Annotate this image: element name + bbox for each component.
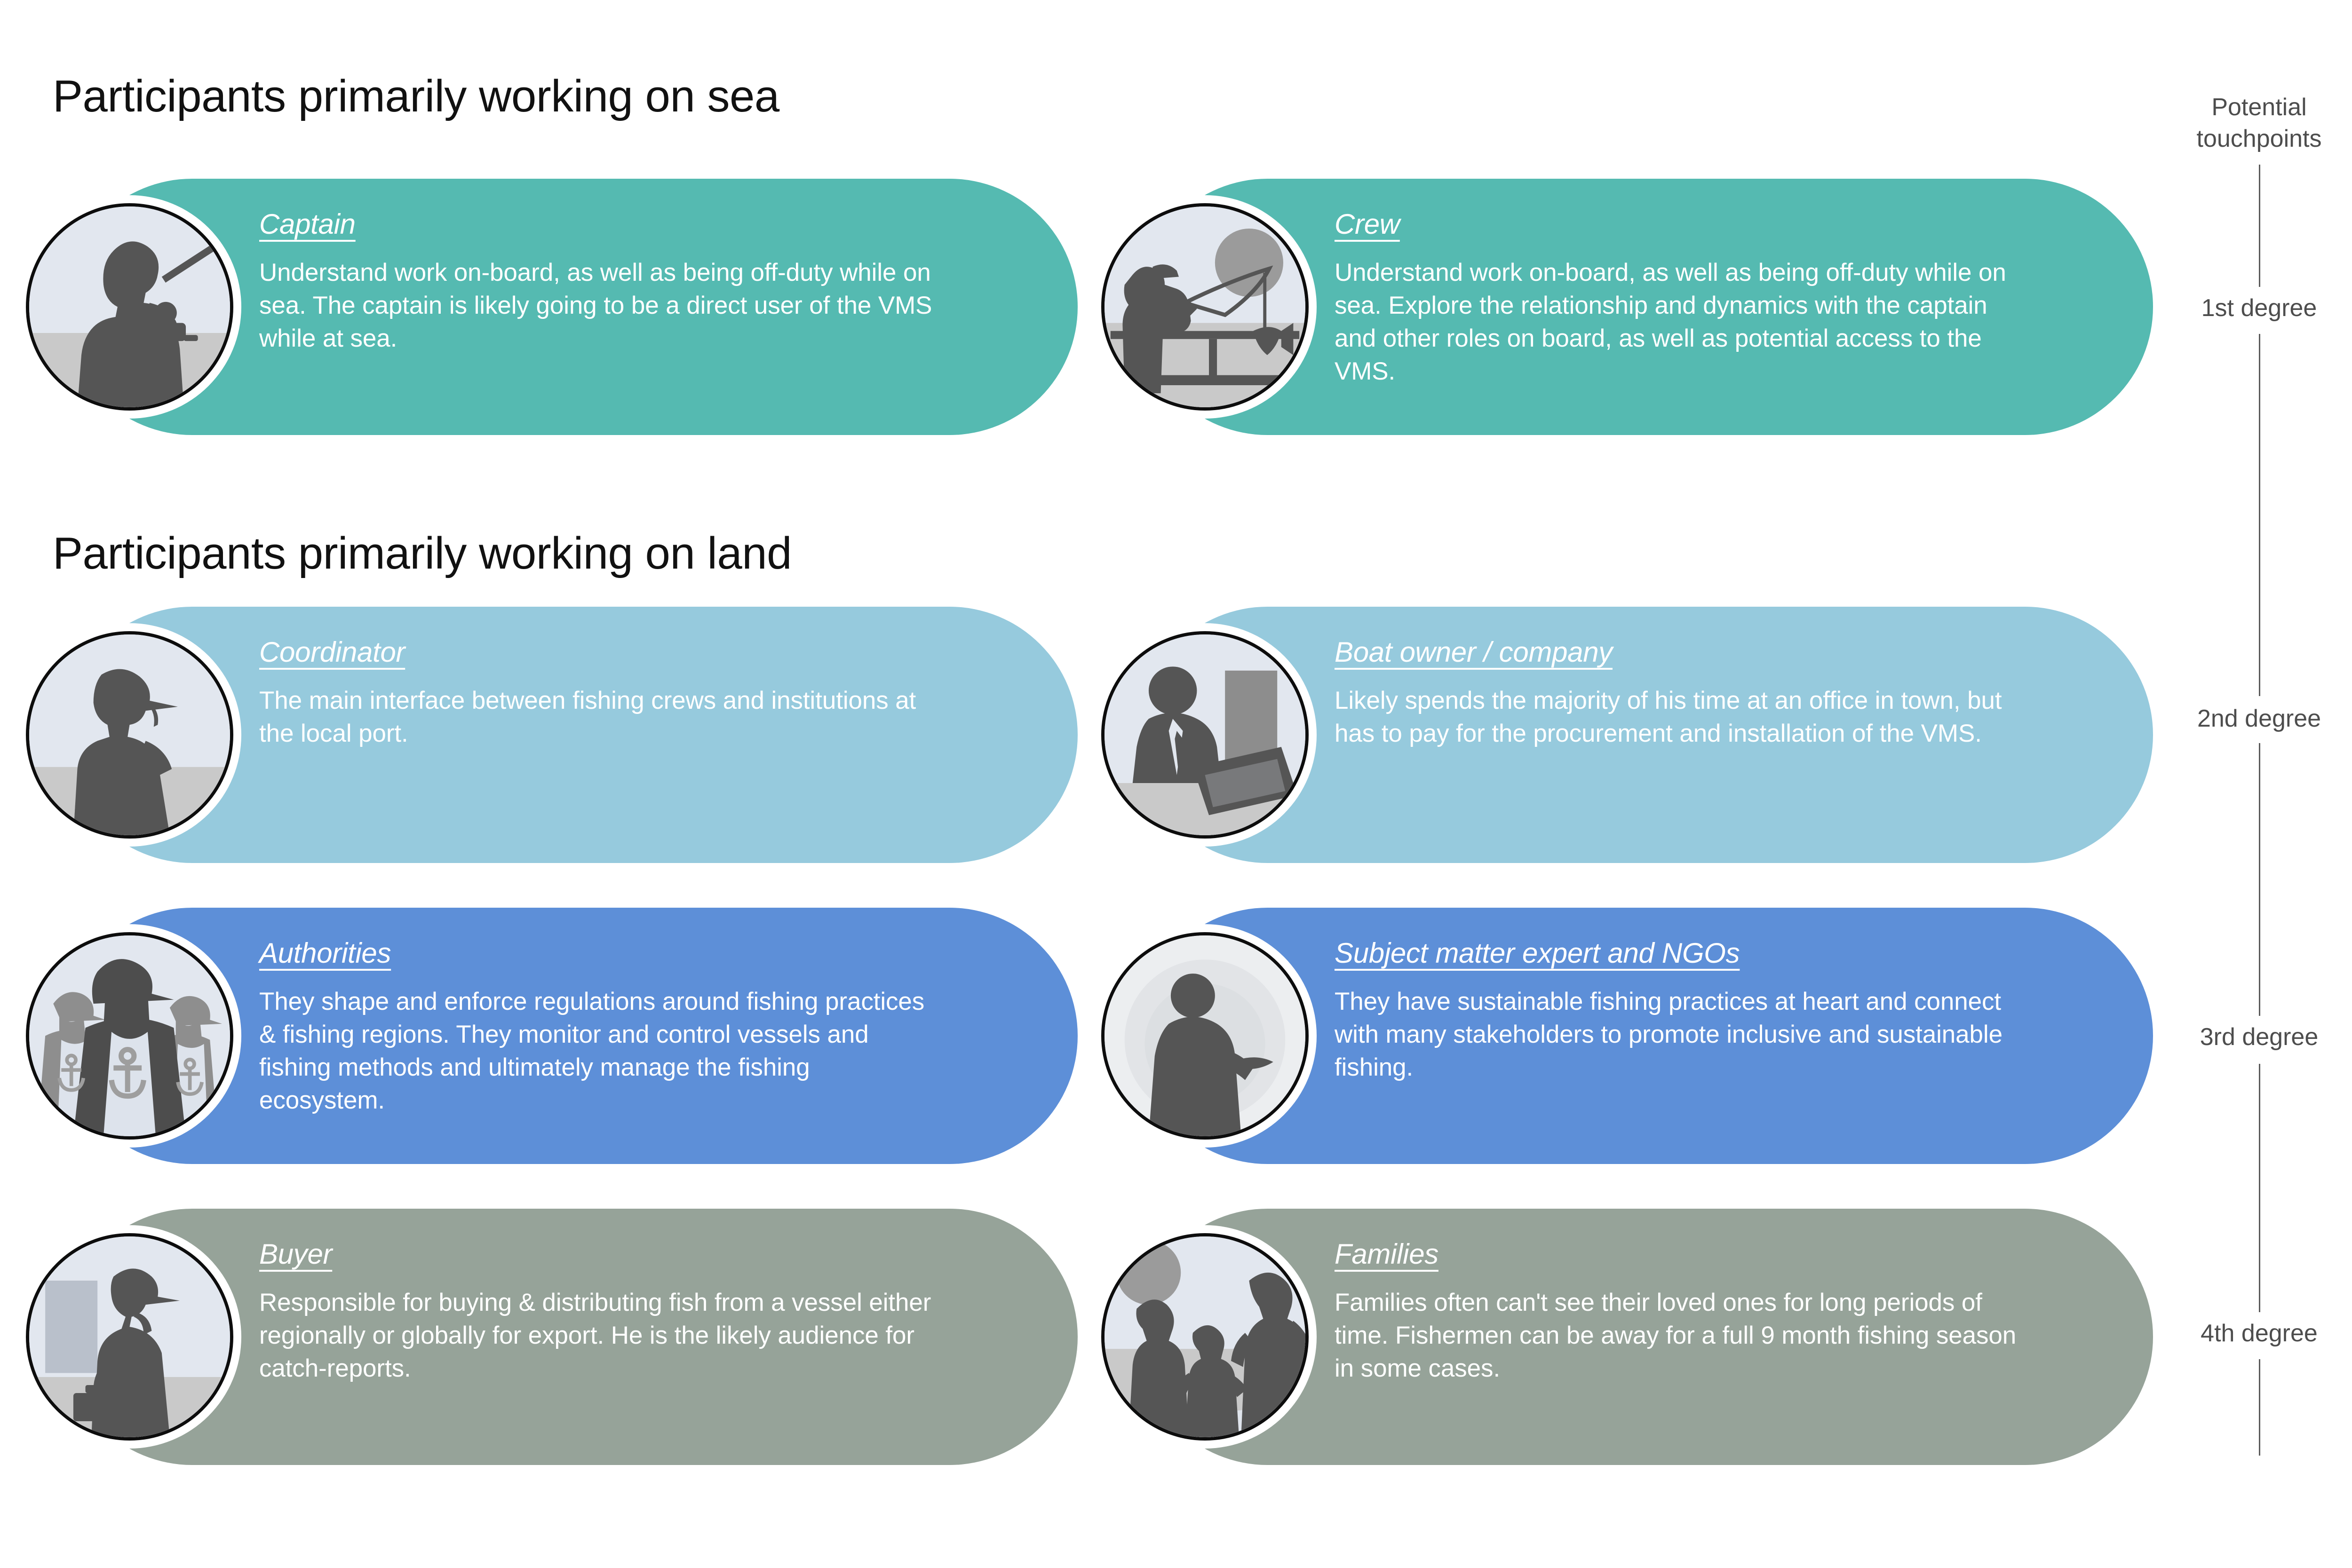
family-holding-hands-icon xyxy=(1104,1236,1305,1437)
role-description: They have sustainable fishing practices … xyxy=(1335,985,2017,1084)
axis-label-4th-degree: 4th degree xyxy=(2166,1319,2352,1347)
role-description: The main interface between fishing crews… xyxy=(259,684,937,750)
role-title: Crew xyxy=(1335,208,2017,240)
participant-card-crew[interactable]: Crew Understand work on-board, as well a… xyxy=(1139,179,2153,435)
participant-card-captain[interactable]: Captain Understand work on-board, as wel… xyxy=(64,179,1078,435)
axis-title-line-2: touchpoints xyxy=(2166,123,2352,155)
role-description: Responsible for buying & distributing fi… xyxy=(259,1286,937,1385)
card-body: Crew Understand work on-board, as well a… xyxy=(1335,208,2017,388)
avatar-buyer xyxy=(18,1225,241,1449)
role-title: Subject matter expert and NGOs xyxy=(1335,937,2017,969)
axis-tick xyxy=(2259,1359,2260,1456)
card-body: Subject matter expert and NGOs They have… xyxy=(1335,937,2017,1084)
avatar-captain xyxy=(18,195,241,419)
card-body: Buyer Responsible for buying & distribut… xyxy=(259,1238,937,1385)
participant-card-buyer[interactable]: Buyer Responsible for buying & distribut… xyxy=(64,1209,1078,1465)
buyer-on-phone-with-briefcase-icon xyxy=(29,1236,230,1437)
businessman-at-desk-icon xyxy=(1104,634,1305,835)
role-title: Authorities xyxy=(259,937,937,969)
crew-fishing-at-railing-icon xyxy=(1104,206,1305,407)
role-title: Boat owner / company xyxy=(1335,636,2017,668)
role-description: Understand work on-board, as well as bei… xyxy=(1335,256,2017,388)
participant-card-families[interactable]: Families Families often can't see their … xyxy=(1139,1209,2153,1465)
role-title: Buyer xyxy=(259,1238,937,1270)
axis-title: Potential touchpoints xyxy=(2166,92,2352,154)
coordinator-with-cap-icon xyxy=(29,634,230,835)
role-title: Captain xyxy=(259,208,937,240)
card-body: Authorities They shape and enforce regul… xyxy=(259,937,937,1117)
card-body: Boat owner / company Likely spends the m… xyxy=(1335,636,2017,750)
participant-card-authorities[interactable]: Authorities They shape and enforce regul… xyxy=(64,908,1078,1164)
role-description: Likely spends the majority of his time a… xyxy=(1335,684,2017,750)
avatar-subject-matter-expert xyxy=(1093,924,1317,1148)
role-title: Families xyxy=(1335,1238,2017,1270)
avatar-coordinator xyxy=(18,623,241,847)
potential-touchpoints-axis: Potential touchpoints 1st degree 2nd deg… xyxy=(2166,0,2352,1568)
presenter-speaking-icon xyxy=(1104,935,1305,1136)
axis-title-line-1: Potential xyxy=(2166,92,2352,123)
participant-card-subject-matter-expert[interactable]: Subject matter expert and NGOs They have… xyxy=(1139,908,2153,1164)
axis-label-3rd-degree: 3rd degree xyxy=(2166,1023,2352,1051)
axis-tick xyxy=(2259,743,2260,1016)
role-description: Understand work on-board, as well as bei… xyxy=(259,256,937,355)
participant-cards-layer: Captain Understand work on-board, as wel… xyxy=(0,0,2352,1568)
axis-tick xyxy=(2259,334,2260,696)
card-body: Captain Understand work on-board, as wel… xyxy=(259,208,937,355)
participant-card-boat-owner[interactable]: Boat owner / company Likely spends the m… xyxy=(1139,607,2153,863)
card-body: Families Families often can't see their … xyxy=(1335,1238,2017,1385)
participant-card-coordinator[interactable]: Coordinator The main interface between f… xyxy=(64,607,1078,863)
role-description: They shape and enforce regulations aroun… xyxy=(259,985,937,1117)
avatar-crew xyxy=(1093,195,1317,419)
role-description: Families often can't see their loved one… xyxy=(1335,1286,2017,1385)
axis-tick xyxy=(2259,1064,2260,1312)
captain-with-fishing-rod-icon xyxy=(29,206,230,407)
axis-tick xyxy=(2259,165,2260,287)
card-body: Coordinator The main interface between f… xyxy=(259,636,937,750)
avatar-authorities xyxy=(18,924,241,1148)
role-title: Coordinator xyxy=(259,636,937,668)
three-officials-with-anchor-icon xyxy=(29,935,230,1136)
avatar-families xyxy=(1093,1225,1317,1449)
axis-label-1st-degree: 1st degree xyxy=(2166,294,2352,322)
avatar-boat-owner xyxy=(1093,623,1317,847)
axis-label-2nd-degree: 2nd degree xyxy=(2166,705,2352,733)
